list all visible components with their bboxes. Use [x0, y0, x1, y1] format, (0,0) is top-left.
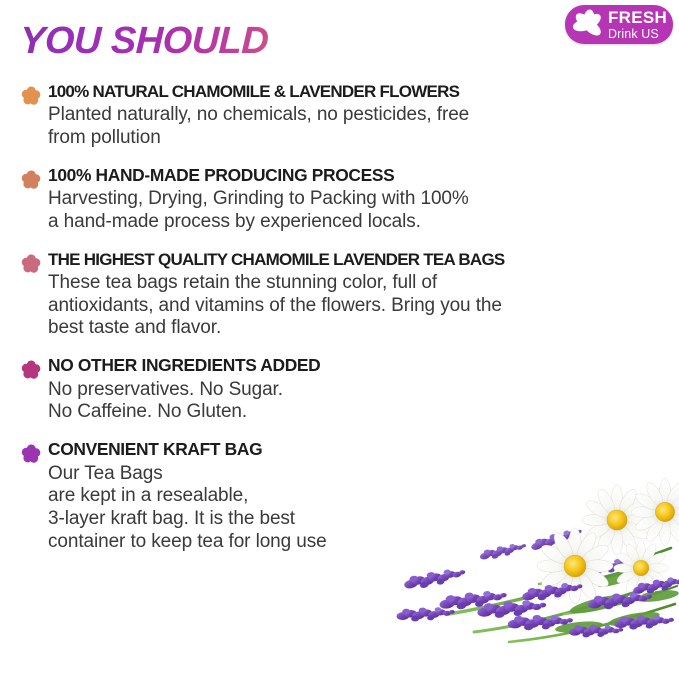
- feature-title: THE HIGHEST QUALITY CHAMOMILE LAVENDER T…: [48, 250, 679, 269]
- flower-bullet-icon: [22, 87, 40, 105]
- feature-body: 100% HAND-MADE PRODUCING PROCESSHarvesti…: [48, 166, 679, 234]
- feature-description-line: are kept in a resealable,: [48, 485, 679, 508]
- brand-subtitle: Drink US: [608, 28, 667, 41]
- page-title-part-purple: YOU SHOULD: [19, 20, 279, 62]
- flower-bullet-icon: [22, 171, 40, 189]
- feature-description-line: No Caffeine. No Gluten.: [48, 401, 679, 424]
- feature-item: THE HIGHEST QUALITY CHAMOMILE LAVENDER T…: [22, 250, 679, 340]
- feature-item: CONVENIENT KRAFT BAGOur Tea Bagsare kept…: [22, 440, 679, 554]
- feature-list: 100% NATURAL CHAMOMILE & LAVENDER FLOWER…: [22, 82, 679, 570]
- feature-description-line: Planted naturally, no chemicals, no pest…: [48, 104, 679, 127]
- feature-description: Harvesting, Drying, Grinding to Packing …: [48, 188, 679, 234]
- flower-bullet-icon: [22, 445, 40, 463]
- feature-description-line: best taste and flavor.: [48, 317, 679, 340]
- feature-description-line: These tea bags retain the stunning color…: [48, 272, 679, 295]
- feature-description-line: 3-layer kraft bag. It is the best: [48, 508, 679, 531]
- feature-body: CONVENIENT KRAFT BAGOur Tea Bagsare kept…: [48, 440, 679, 554]
- feature-description: These tea bags retain the stunning color…: [48, 272, 679, 340]
- feature-description-line: Harvesting, Drying, Grinding to Packing …: [48, 188, 679, 211]
- feature-description: Planted naturally, no chemicals, no pest…: [48, 104, 679, 150]
- feature-body: NO OTHER INGREDIENTS ADDEDNo preservativ…: [48, 356, 679, 424]
- feature-description-line: antioxidants, and vitamins of the flower…: [48, 295, 679, 318]
- feature-description: No preservatives. No Sugar.No Caffeine. …: [48, 379, 679, 425]
- feature-title: 100% NATURAL CHAMOMILE & LAVENDER FLOWER…: [48, 82, 679, 101]
- feature-body: THE HIGHEST QUALITY CHAMOMILE LAVENDER T…: [48, 250, 679, 340]
- feature-item: 100% NATURAL CHAMOMILE & LAVENDER FLOWER…: [22, 82, 679, 150]
- feature-title: CONVENIENT KRAFT BAG: [48, 440, 679, 459]
- feature-item: 100% HAND-MADE PRODUCING PROCESSHarvesti…: [22, 166, 679, 234]
- page-title-part-orange: HAVE THIS!: [278, 20, 487, 62]
- feature-title: NO OTHER INGREDIENTS ADDED: [48, 356, 679, 375]
- feature-body: 100% NATURAL CHAMOMILE & LAVENDER FLOWER…: [48, 82, 679, 150]
- feature-description-line: container to keep tea for long use: [48, 531, 679, 554]
- brand-badge-text: FRESH Drink US: [608, 9, 667, 41]
- flower-bullet-icon: [22, 361, 40, 379]
- brand-title: FRESH: [608, 9, 667, 26]
- page-title: YOU SHOULD HAVE THIS!: [19, 20, 486, 63]
- feature-description-line: from pollution: [48, 127, 679, 150]
- flower-bullet-icon: [22, 255, 40, 273]
- feature-item: NO OTHER INGREDIENTS ADDEDNo preservativ…: [22, 356, 679, 424]
- feature-description-line: a hand-made process by experienced local…: [48, 211, 679, 234]
- brand-badge[interactable]: FRESH Drink US: [565, 5, 673, 44]
- feature-description-line: No preservatives. No Sugar.: [48, 379, 679, 402]
- feature-description-line: Our Tea Bags: [48, 463, 679, 486]
- flower-icon: [570, 7, 606, 43]
- feature-title: 100% HAND-MADE PRODUCING PROCESS: [48, 166, 679, 185]
- feature-description: Our Tea Bagsare kept in a resealable,3-l…: [48, 463, 679, 554]
